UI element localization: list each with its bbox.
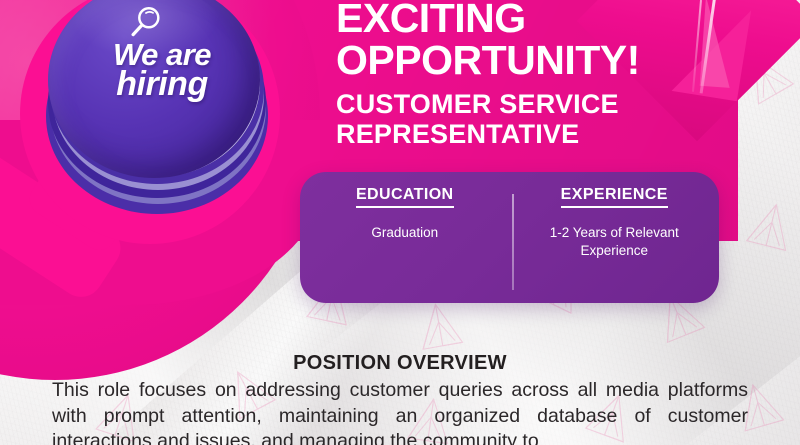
experience-value: 1-2 Years of Relevant Experience (529, 224, 699, 260)
experience-heading: EXPERIENCE (561, 186, 668, 208)
position-overview-body: This role focuses on addressing customer… (52, 378, 748, 445)
education-value: Graduation (371, 224, 438, 242)
badge-line-2: hiring (48, 69, 276, 101)
headline-line-2: OPPORTUNITY! (336, 40, 736, 82)
card-divider (512, 194, 514, 290)
we-are-hiring-badge: We are hiring (0, 0, 312, 316)
education-column: EDUCATION Graduation (300, 172, 510, 303)
requirements-card: EDUCATION Graduation EXPERIENCE 1-2 Year… (300, 172, 719, 303)
job-title-line-2: REPRESENTATIVE (336, 119, 736, 149)
headline-line-1: EXCITING (336, 0, 736, 40)
headline-group: EXCITING OPPORTUNITY! CUSTOMER SERVICE R… (336, 0, 736, 149)
experience-column: EXPERIENCE 1-2 Years of Relevant Experie… (510, 172, 720, 303)
badge-disc-stack: We are hiring (40, 0, 272, 218)
badge-text: We are hiring (48, 40, 276, 101)
job-poster: We are hiring EXCITING OPPORTUNITY! CUST… (0, 0, 800, 445)
education-heading: EDUCATION (356, 186, 454, 208)
position-overview-title: POSITION OVERVIEW (0, 352, 800, 375)
job-title-line-1: CUSTOMER SERVICE (336, 89, 736, 119)
